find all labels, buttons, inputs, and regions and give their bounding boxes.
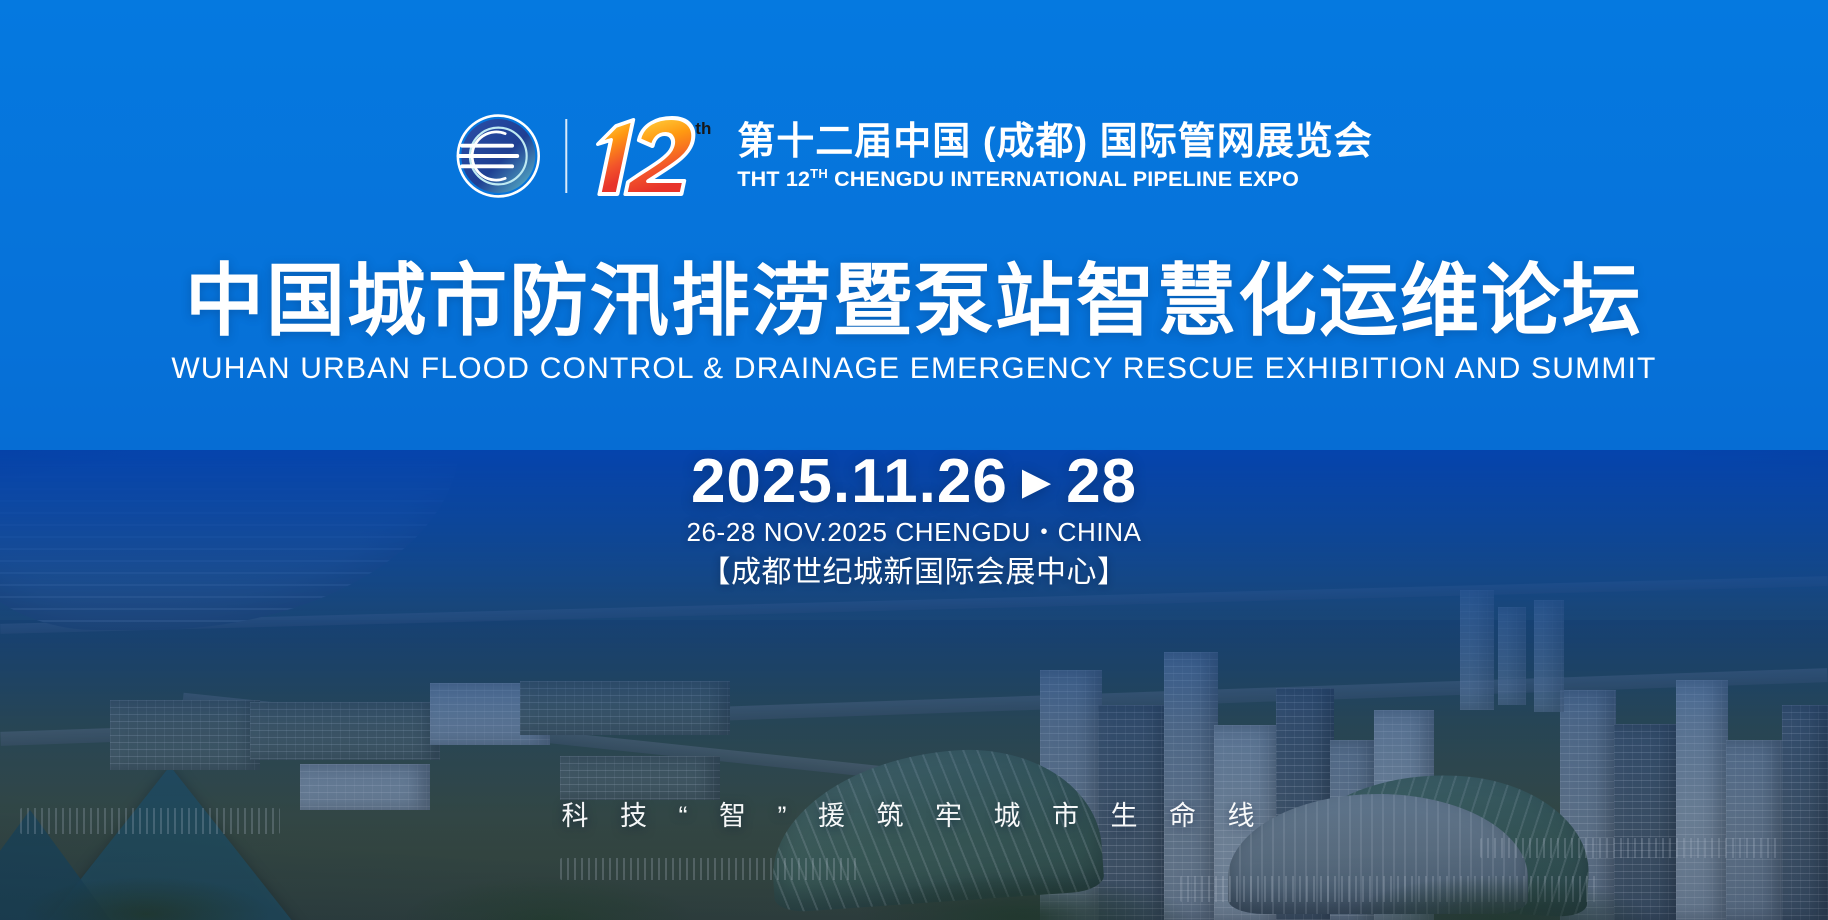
expo-title-en-prefix: THT 12 xyxy=(737,167,810,191)
twelfth-numeral-icon: th xyxy=(591,110,719,202)
lockup-titles: 第十二届中国 (成都) 国际管网展览会 THT 12TH CHENGDU INT… xyxy=(737,122,1372,191)
event-date-en: 26-28 NOV.2025 CHENGDU・CHINA xyxy=(0,517,1828,548)
expo-logo-lockup: th 第十二届中国 (成都) 国际管网展览会 THT 12TH CHENGDU … xyxy=(455,110,1372,202)
forum-headline-en: WUHAN URBAN FLOOD CONTROL & DRAINAGE EME… xyxy=(0,352,1828,385)
expo-title-en-ordinal: TH xyxy=(810,166,828,181)
event-date: 2025.11.26▶28 xyxy=(0,448,1828,516)
svg-text:th: th xyxy=(695,119,711,138)
expo-title-en: THT 12TH CHENGDU INTERNATIONAL PIPELINE … xyxy=(737,167,1372,191)
pipeline-expo-emblem-icon xyxy=(455,113,541,199)
event-banner: th 第十二届中国 (成都) 国际管网展览会 THT 12TH CHENGDU … xyxy=(0,0,1828,920)
event-date-start: 2025.11.26 xyxy=(691,447,1008,516)
lockup-divider xyxy=(565,119,567,193)
date-range-arrow-icon: ▶ xyxy=(1022,462,1052,504)
event-tagline: 科 技 “ 智 ” 援 筑 牢 城 市 生 命 线 xyxy=(0,800,1828,832)
event-venue: 【成都世纪城新国际会展中心】 xyxy=(0,555,1828,591)
event-date-end: 28 xyxy=(1066,447,1137,516)
expo-title-en-rest: CHENGDU INTERNATIONAL PIPELINE EXPO xyxy=(828,167,1299,191)
edition-numeral: th xyxy=(591,110,719,202)
expo-title-cn: 第十二届中国 (成都) 国际管网展览会 xyxy=(737,122,1372,162)
forum-headline-cn: 中国城市防汛排涝暨泵站智慧化运维论坛 xyxy=(0,258,1828,343)
